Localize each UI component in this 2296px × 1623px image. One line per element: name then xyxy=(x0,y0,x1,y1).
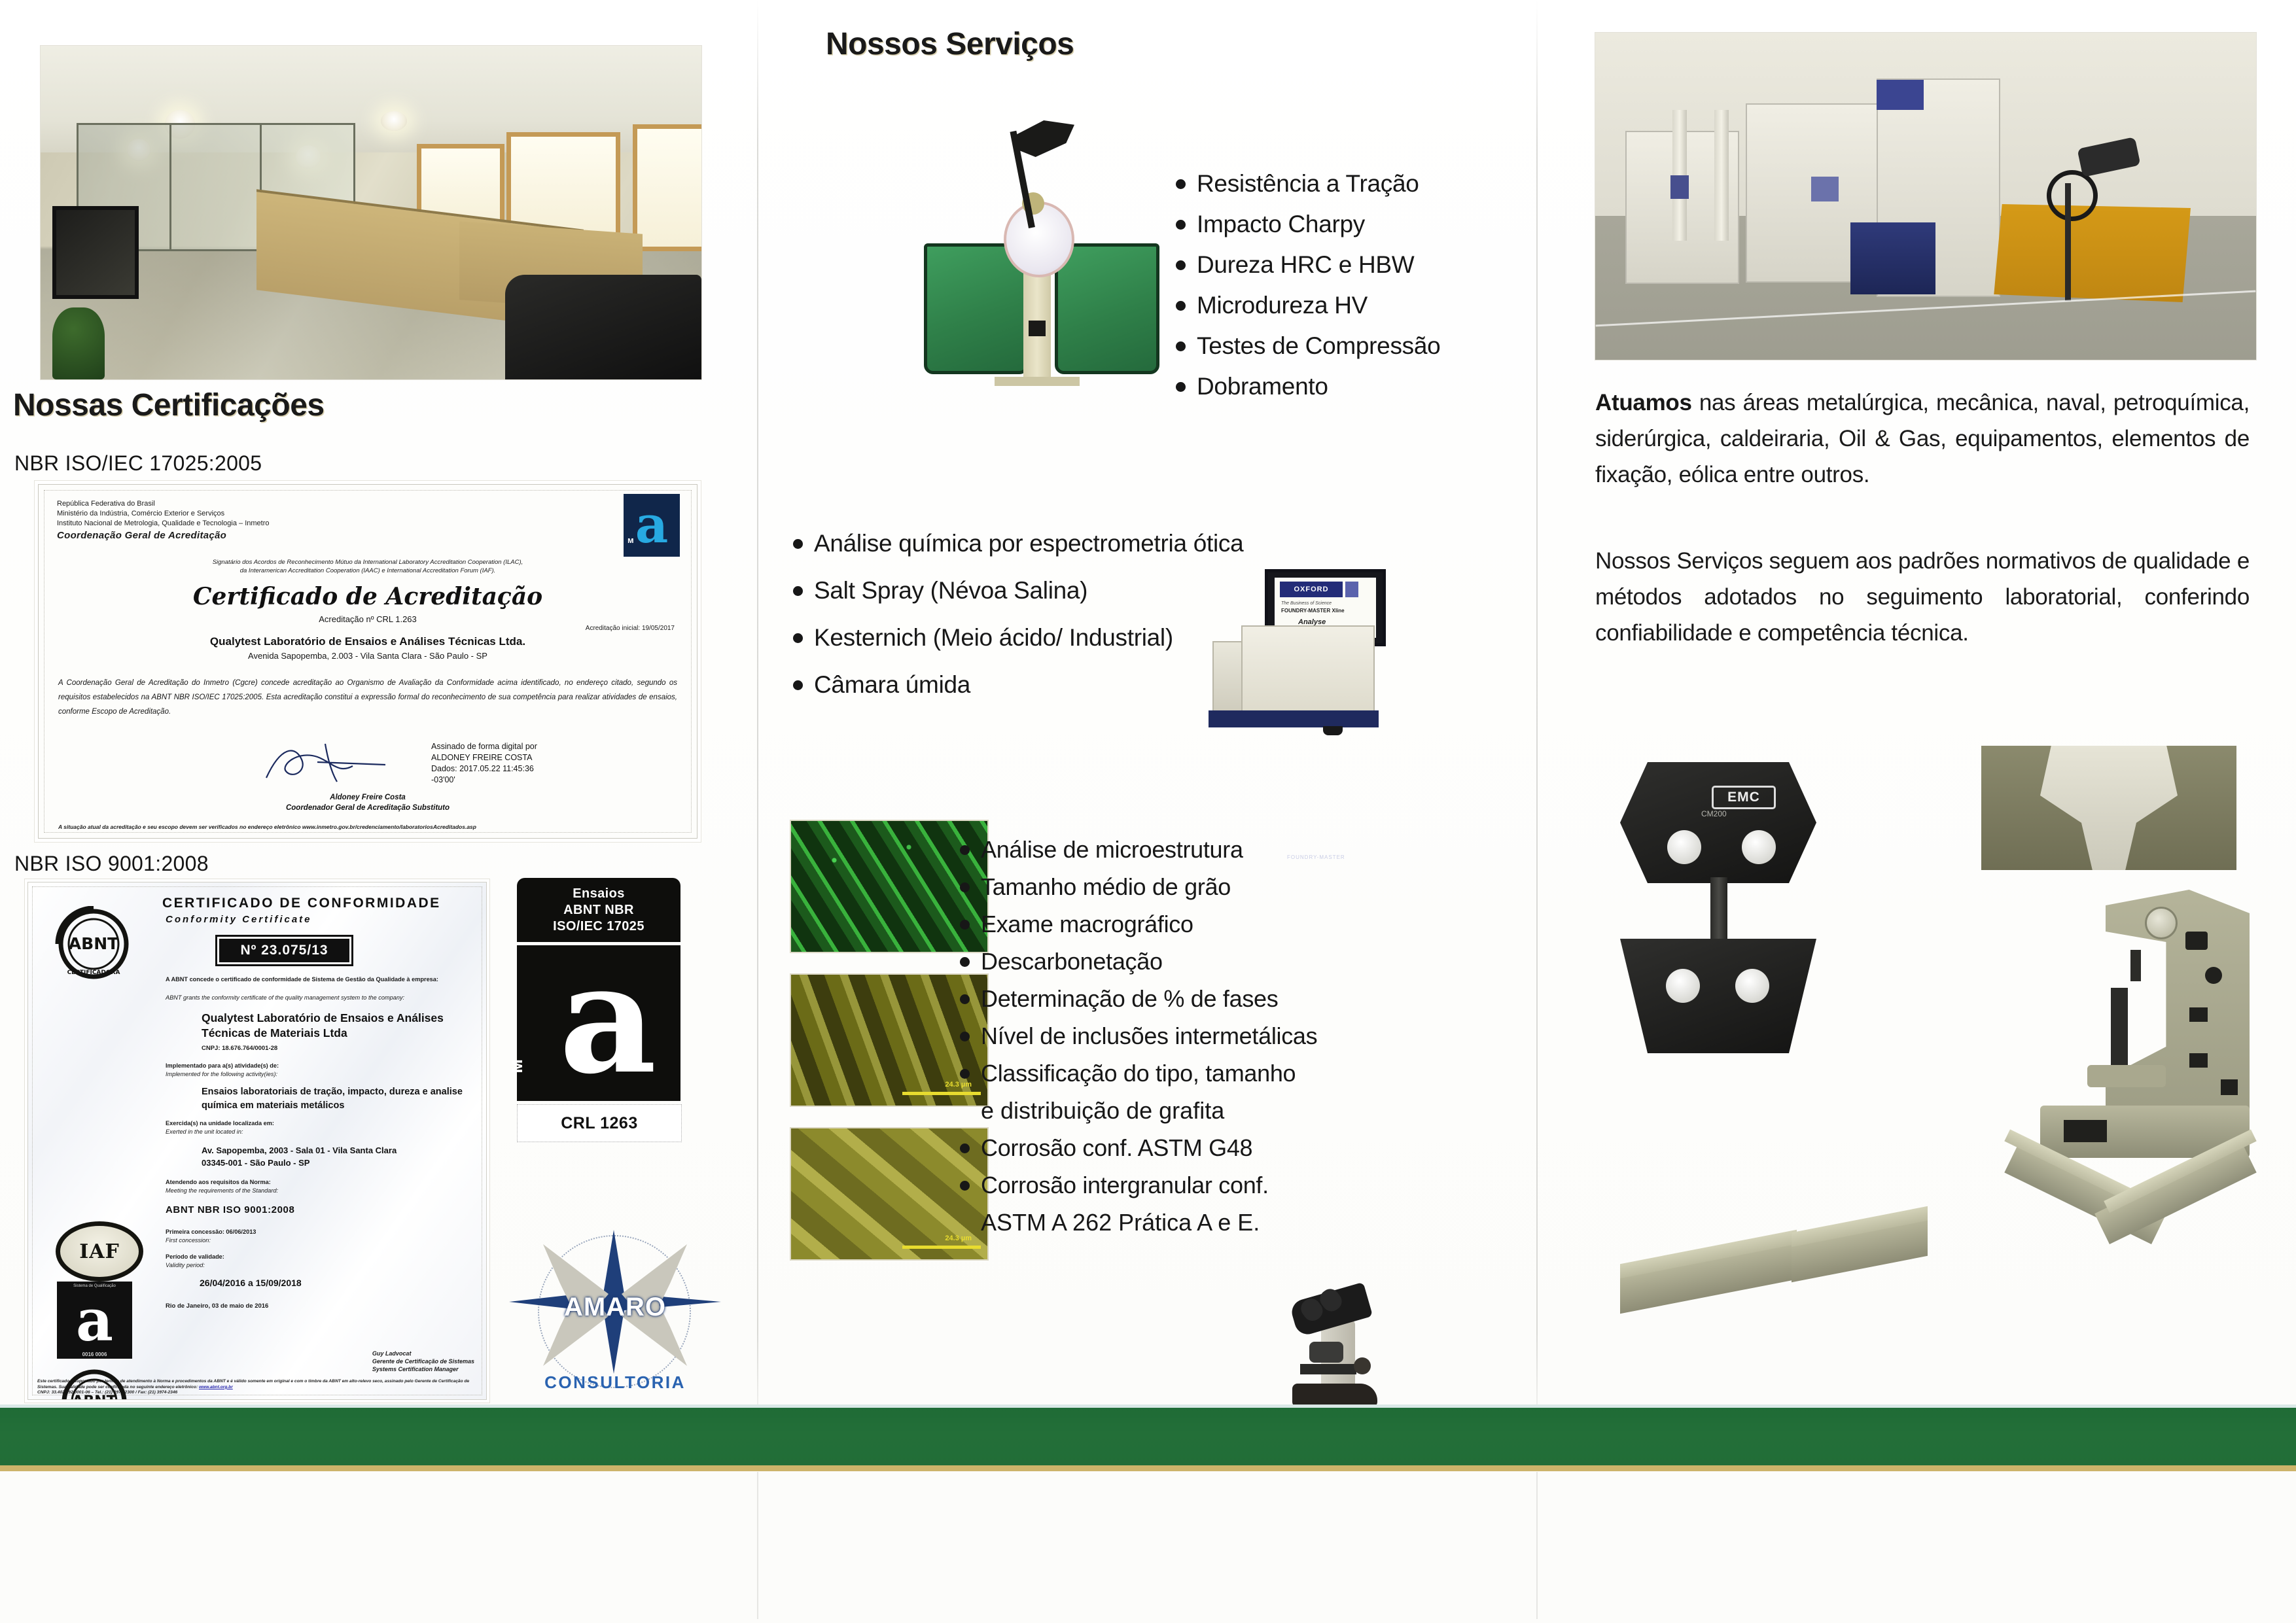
ensaios-logo-mark: м xyxy=(505,1059,527,1073)
ilac-logo-icon: a м xyxy=(624,494,680,557)
digital-signature-block: Assinado de forma digital por ALDONEY FR… xyxy=(431,741,537,786)
inmetro-seal-letter: a xyxy=(76,1299,113,1342)
bullet-icon xyxy=(1176,301,1186,311)
manager-block: Guy Ladvocat Gerente de Certificação de … xyxy=(372,1350,474,1373)
signer-name: Aldoney Freire Costa xyxy=(39,792,697,803)
tester-control xyxy=(2205,967,2222,984)
service-label: Nível de inclusões intermetálicas xyxy=(981,1017,1317,1055)
fixture-roller xyxy=(1735,969,1769,1003)
signer-role: Coordenador Geral de Acreditação Substit… xyxy=(39,803,697,813)
tester-elevating-screw xyxy=(2111,988,2128,1070)
list-item[interactable]: Descarbonetação xyxy=(960,943,1523,980)
service-label: Descarbonetação xyxy=(981,943,1163,980)
footer-green-band xyxy=(0,1408,2296,1465)
conformity-certificate[interactable]: ABNT CERTIFICADORA CERTIFICADO DE CONFOR… xyxy=(27,882,487,1400)
tester-gauge xyxy=(2145,907,2178,939)
fold-line xyxy=(1536,0,1538,1449)
machine-base xyxy=(995,377,1080,386)
list-item[interactable]: Análise química por espectrometria ótica xyxy=(793,520,1447,567)
certificate-body-text: A Coordenação Geral de Acreditação do In… xyxy=(58,676,677,719)
service-label: Impacto Charpy xyxy=(1197,204,1365,245)
header-line-4: Coordenação Geral de Acreditação xyxy=(57,531,270,540)
iaf-seal-icon: IAF xyxy=(56,1221,143,1282)
service-label: Câmara úmida xyxy=(814,661,970,708)
services-mechanical-list: Resistência a Tração Impacto Charpy Dure… xyxy=(1176,164,1516,407)
spectrometer-model: FOUNDRY-MASTER Xline xyxy=(1281,608,1345,614)
bullet-icon xyxy=(960,1181,970,1191)
certificate-company-name: Qualytest Laboratório de Ensaios e Análi… xyxy=(39,635,697,648)
wall-frame xyxy=(52,206,139,299)
bullet-icon xyxy=(960,1069,970,1079)
unit-label-pt: Exercida(s) na unidade localizada em: xyxy=(166,1119,274,1127)
bullet-icon xyxy=(960,1143,970,1153)
specimen-shaft xyxy=(1710,877,1727,943)
signatory-line-2: da Interamerican Accreditation Cooperati… xyxy=(101,567,634,575)
digital-signature-line-2: ALDONEY FREIRE COSTA xyxy=(431,752,537,763)
service-label: Classificação do tipo, tamanho xyxy=(981,1055,1296,1092)
standard-label-pt: Atendendo aos requisitos da Norma: xyxy=(166,1178,271,1186)
manager-role-pt: Gerente de Certificação de Sistemas xyxy=(372,1357,474,1365)
bullet-icon xyxy=(960,882,970,892)
certificate-company-address: Avenida Sapopemba, 2.003 - Vila Santa Cl… xyxy=(39,651,697,661)
bullet-icon xyxy=(1176,382,1186,392)
spectrometer-body xyxy=(1241,625,1375,713)
tester-control xyxy=(2185,932,2208,950)
list-item[interactable]: Determinação de % de fases xyxy=(960,980,1523,1017)
accreditation-certificate[interactable]: República Federativa do Brasil Ministéri… xyxy=(38,484,698,839)
office-interior-photo xyxy=(41,46,701,379)
signer-block: Aldoney Freire Costa Coordenador Geral d… xyxy=(39,792,697,813)
unit-address-line-1: Av. Sapopemba, 2003 - Sala 01 - Vila San… xyxy=(202,1144,397,1157)
certificate-title: Certificado de Acreditação xyxy=(39,583,697,610)
standard-name: ABNT NBR ISO 9001:2008 xyxy=(166,1204,294,1215)
fixture-upper-jaw: EMC CM200 xyxy=(1620,762,1816,883)
about-paragraph-1-text: nas áreas metalúrgica, mecânica, naval, … xyxy=(1595,390,2250,487)
machine-panel xyxy=(1029,321,1046,336)
list-item[interactable]: Impacto Charpy xyxy=(1176,204,1516,245)
iaf-seal-text: IAF xyxy=(79,1240,120,1263)
service-label: Kesternich (Meio ácido/ Industrial) xyxy=(814,614,1173,661)
tester-control xyxy=(2189,1007,2208,1022)
page-title-services: Nossos Serviços xyxy=(826,26,1074,62)
grant-text-pt: A ABNT concede o certificado de conformi… xyxy=(166,975,474,983)
fractured-specimen-photo xyxy=(1981,746,2236,870)
fixture-model-label: CM200 xyxy=(1701,809,1727,818)
bullet-icon xyxy=(960,994,970,1004)
service-label: Microdureza HV xyxy=(1197,285,1368,326)
micrograph-image: 24.3 µm xyxy=(791,1128,987,1259)
bullet-icon xyxy=(1176,341,1186,351)
inmetro-seal-icon: Sistema de Qualificação a 0016 0006 xyxy=(57,1282,132,1359)
list-item[interactable]: Corrosão intergranular conf. xyxy=(960,1166,1523,1204)
header-line-1: República Federativa do Brasil xyxy=(57,499,270,509)
optical-spectrometer-photo: OXFORD The Business of Science FOUNDRY-M… xyxy=(1209,569,1395,739)
list-item[interactable]: Análise de microestrutura xyxy=(960,831,1523,868)
bullet-icon xyxy=(1176,179,1186,189)
support-post xyxy=(2065,183,2071,301)
machine-column xyxy=(1714,110,1729,241)
left-panel: Nossas Certificações NBR ISO/IEC 17025:2… xyxy=(0,0,757,1449)
fold-line xyxy=(757,1472,758,1619)
bench-hardness-tester-photo xyxy=(2034,890,2250,1184)
charpy-fixture-photo: EMC CM200 xyxy=(1595,749,1922,1076)
fixture-roller xyxy=(1667,830,1701,864)
charpy-impact-machine-illustration xyxy=(924,124,1159,386)
list-item[interactable]: Corrosão conf. ASTM G48 xyxy=(960,1129,1523,1166)
scale-bar xyxy=(902,1246,981,1249)
service-label: Testes de Compressão xyxy=(1197,326,1440,366)
digital-signature-line-3: Dados: 2017.05.22 11:45:36 xyxy=(431,763,537,775)
fixture-roller xyxy=(1666,969,1700,1003)
middle-panel: Nossos Serviços Resistência a Tração Imp… xyxy=(757,0,1536,1449)
city-and-date: Rio de Janeiro, 03 de maio de 2016 xyxy=(166,1302,268,1310)
about-lead-word: Atuamos xyxy=(1595,390,1692,415)
ensaios-logo-letter: a xyxy=(559,966,656,1074)
list-item[interactable]: Testes de Compressão xyxy=(1176,326,1516,366)
validity-period: 26/04/2016 a 15/09/2018 xyxy=(200,1278,302,1288)
ilac-logo-mark: м xyxy=(627,535,634,545)
tester-control xyxy=(2221,1079,2238,1095)
service-label: Resistência a Tração xyxy=(1197,164,1419,204)
certificate-number: Nº 23.075/13 xyxy=(240,943,328,958)
oxford-brand-logo: OXFORD xyxy=(1280,582,1343,597)
list-item[interactable]: Microdureza HV xyxy=(1176,285,1516,326)
fixture-lower-jaw xyxy=(1620,939,1816,1053)
svg-text:ABNT: ABNT xyxy=(69,934,118,953)
handwritten-signature-icon xyxy=(255,740,398,786)
list-item[interactable]: Exame macrográfico xyxy=(960,905,1523,943)
abnt-secondary-seal-icon: ABNT xyxy=(52,1368,137,1400)
list-item[interactable]: Classificação do tipo, tamanho xyxy=(960,1055,1523,1092)
certificate-number-badge: Nº 23.075/13 xyxy=(215,935,353,966)
footer-gold-accent xyxy=(0,1465,2296,1471)
list-item[interactable]: Dobramento xyxy=(1176,366,1516,407)
tester-window xyxy=(2064,1120,2107,1142)
ensaios-accreditation-logo: Ensaios ABNT NBR ISO/IEC 17025 м a CRL 1… xyxy=(517,878,680,1159)
right-panel: Atuamos nas áreas metalúrgica, mecânica,… xyxy=(1536,0,2296,1449)
tester-anvil xyxy=(2087,1065,2166,1087)
list-item[interactable]: Resistência a Tração xyxy=(1176,164,1516,204)
header-line-3: Instituto Nacional de Metrologia, Qualid… xyxy=(57,519,270,529)
standard-label-en: Meeting the requirements of the Standard… xyxy=(166,1187,278,1195)
brand-accent-bar xyxy=(1345,582,1358,597)
validity-label-pt: Período de validade: xyxy=(166,1253,224,1261)
mechanical-testing-lab-photo xyxy=(1595,33,2256,360)
hand-wheel xyxy=(2047,170,2098,221)
signatory-text: Signatário dos Acordos de Reconhecimento… xyxy=(101,558,634,575)
microscope-nosepiece xyxy=(1309,1342,1343,1363)
tester-indenter xyxy=(2130,950,2141,981)
bend-test-specimen-photo xyxy=(1988,1210,2263,1341)
conformity-title-en: Conformity Certificate xyxy=(166,914,312,925)
blue-equipment-panel xyxy=(1877,80,1924,110)
blue-equipment-cabinet xyxy=(1850,222,1935,294)
microscope-stage xyxy=(1300,1364,1356,1374)
ceiling-lamp xyxy=(381,111,407,131)
digital-signature-line-1: Assinado de forma digital por xyxy=(431,741,537,752)
spectrometer-plinth: FOUNDRY-MASTER xyxy=(1209,710,1379,727)
label-iso-17025: NBR ISO/IEC 17025:2005 xyxy=(14,451,262,476)
service-label: Dobramento xyxy=(1197,366,1328,407)
service-label: Exame macrográfico xyxy=(981,905,1193,943)
manager-role-en: Systems Certification Manager xyxy=(372,1365,474,1373)
initial-accreditation-date: Acreditação inicial: 19/05/2017 xyxy=(586,625,675,632)
bullet-icon xyxy=(793,633,803,643)
machine-display xyxy=(1670,175,1689,199)
microscope-focus-knob xyxy=(1354,1357,1371,1374)
unit-address-line-2: 03345-001 - São Paulo - SP xyxy=(202,1157,309,1169)
bullet-icon xyxy=(960,1032,970,1041)
certificate-header: República Federativa do Brasil Ministéri… xyxy=(57,499,270,540)
svg-text:CERTIFICADORA: CERTIFICADORA xyxy=(67,969,120,976)
activities-label-pt: Implementado para a(s) atividade(s) de: xyxy=(166,1062,279,1070)
service-label: Determinação de % de fases xyxy=(981,980,1278,1017)
pendulum-hammer xyxy=(1016,120,1074,157)
services-metallography-list: Análise de microestrutura Tamanho médio … xyxy=(960,831,1523,1241)
micrograph-strip: 24.3 µm 24.3 µm xyxy=(791,821,987,1259)
spectrometer-foot xyxy=(1323,726,1343,735)
fracture-surface xyxy=(2040,746,2178,870)
certificate-footer-note: A situação atual da acreditação e seu es… xyxy=(58,824,684,830)
svg-text:ABNT: ABNT xyxy=(72,1393,116,1400)
spectrometer-tagline: The Business of Science xyxy=(1281,601,1332,606)
service-label: Tamanho médio de grão xyxy=(981,868,1231,905)
amaro-wordmark: AMARO xyxy=(497,1293,733,1322)
notched-test-bar-photo xyxy=(1620,1217,1941,1341)
about-paragraph-1: Atuamos nas áreas metalúrgica, mecânica,… xyxy=(1595,385,2250,493)
about-paragraph-2: Nossos Serviços seguem aos padrões norma… xyxy=(1595,543,2250,651)
service-label: Salt Spray (Névoa Salina) xyxy=(814,567,1087,614)
fixture-roller xyxy=(1742,830,1776,864)
first-concession-en: First concession: xyxy=(166,1236,211,1244)
machine-display xyxy=(1811,177,1839,201)
label-iso-9001: NBR ISO 9001:2008 xyxy=(14,852,209,876)
service-label: Corrosão conf. ASTM G48 xyxy=(981,1129,1252,1166)
page-title-certifications: Nossas Certificações xyxy=(13,387,325,423)
inmetro-seal-caption: Sistema de Qualificação xyxy=(57,1284,132,1289)
abnt-seal-icon: ABNT CERTIFICADORA xyxy=(48,906,139,985)
ensaios-logo-line-1: Ensaios xyxy=(573,886,625,902)
signatory-line-1: Signatário dos Acordos de Reconhecimento… xyxy=(101,558,634,567)
ilac-logo-letter: a xyxy=(635,505,669,546)
bullet-icon xyxy=(960,957,970,967)
header-line-2: Ministério da Indústria, Comércio Exteri… xyxy=(57,509,270,519)
service-label: Análise de microestrutura xyxy=(981,831,1243,868)
window xyxy=(633,124,701,251)
company-cnpj: CNPJ: 18.676.764/0001-28 xyxy=(202,1045,277,1052)
amaro-consultoria-logo: AMARO CONSULTORIA xyxy=(497,1210,733,1406)
accreditation-number: Acreditação nº CRL 1.263 xyxy=(39,614,697,624)
bullet-icon xyxy=(793,680,803,690)
inmetro-seal-code: 0016 0006 xyxy=(57,1352,132,1357)
bullet-icon xyxy=(793,586,803,596)
bullet-icon xyxy=(960,920,970,930)
bullet-icon xyxy=(1176,260,1186,270)
bullet-icon xyxy=(960,845,970,855)
bullet-icon xyxy=(793,539,803,549)
first-concession-pt: Primeira concessão: 06/06/2013 xyxy=(166,1228,256,1236)
ensaios-logo-line-2: ABNT NBR xyxy=(563,902,634,918)
activities-text: Ensaios laboratoriais de tração, impacto… xyxy=(202,1085,476,1113)
amber-safety-screen xyxy=(1988,204,2191,302)
potted-plant xyxy=(52,307,105,379)
service-label-continued: e distribuição de grafita xyxy=(960,1092,1523,1129)
list-item[interactable]: Dureza HRC e HBW xyxy=(1176,245,1516,285)
micrograph-image: 24.3 µm xyxy=(791,975,987,1106)
microscope-base xyxy=(1292,1384,1377,1407)
amaro-subtitle: CONSULTORIA xyxy=(497,1372,733,1393)
ensaios-logo-glyph-box: м a xyxy=(517,945,680,1101)
legal-link[interactable]: www.abnt.org.br xyxy=(199,1385,233,1389)
manager-name: Guy Ladvocat xyxy=(372,1350,474,1357)
machine-guard-right xyxy=(1055,243,1159,374)
grant-text-en: ABNT grants the conformity certificate o… xyxy=(166,994,474,1002)
activities-label-en: Implemented for the following activity(i… xyxy=(166,1070,277,1078)
conformity-company-name: Qualytest Laboratório de Ensaios e Análi… xyxy=(202,1011,477,1041)
fold-line xyxy=(1536,1472,1538,1619)
tester-control xyxy=(2189,1053,2208,1068)
optical-microscope-photo xyxy=(1274,1285,1418,1413)
ensaios-logo-code: CRL 1263 xyxy=(517,1104,682,1142)
list-item[interactable]: Tamanho médio de grão xyxy=(960,868,1523,905)
list-item[interactable]: Nível de inclusões intermetálicas xyxy=(960,1017,1523,1055)
emc-brand-logo: EMC xyxy=(1712,786,1776,809)
service-label: Análise química por espectrometria ótica xyxy=(814,520,1243,567)
digital-signature-line-4: -03'00' xyxy=(431,775,537,786)
service-label: Corrosão intergranular conf. xyxy=(981,1166,1269,1204)
micrograph-image xyxy=(791,821,987,952)
unit-label-en: Exerted in the unit located in: xyxy=(166,1128,243,1136)
fold-line xyxy=(757,0,758,1449)
brochure-page: Nossas Certificações NBR ISO/IEC 17025:2… xyxy=(0,0,2296,1623)
leather-sofa xyxy=(505,275,701,379)
validity-label-en: Validity period: xyxy=(166,1261,205,1269)
bullet-icon xyxy=(1176,220,1186,230)
service-label: Dureza HRC e HBW xyxy=(1197,245,1414,285)
conformity-title-pt: CERTIFICADO DE CONFORMIDADE xyxy=(162,896,441,911)
service-label-continued: ASTM A 262 Prática A e E. xyxy=(960,1204,1523,1241)
